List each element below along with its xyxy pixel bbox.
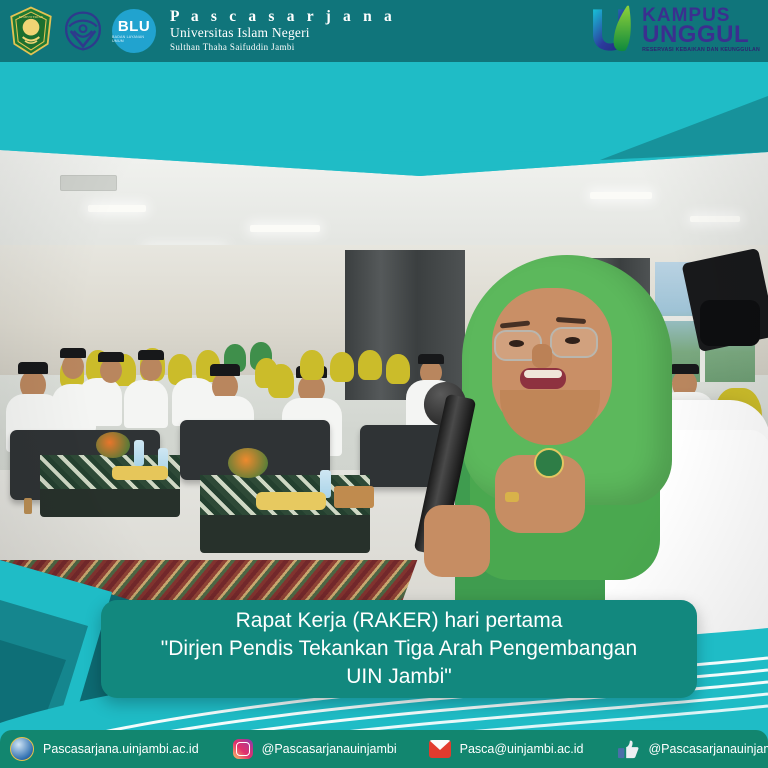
footer-facebook-label: @Pascasarjanauinjambi <box>648 742 768 756</box>
instagram-icon <box>233 739 253 759</box>
header-logo-group: KEMENTERIAN BLU BADAN LAYANAN UMUM P a s… <box>0 6 396 56</box>
caption-line-3: UIN Jambi" <box>346 663 451 691</box>
footer-email[interactable]: Pasca@uinjambi.ac.id <box>429 740 584 758</box>
logo-uin-sts-jambi-icon <box>60 8 106 54</box>
footer-website-label: Pascasarjana.uinjambi.ac.id <box>43 742 199 756</box>
kampus-unggul-mark-icon <box>584 4 638 56</box>
kampus-unggul-logo: KAMPUS UNGGUL RESERVASI KEBAIKAN DAN KEU… <box>584 4 760 56</box>
svg-text:KEMENTERIAN: KEMENTERIAN <box>19 15 44 19</box>
institution-title-block: P a s c a s a r j a n a Universitas Isla… <box>170 8 396 54</box>
blu-sublabel: BADAN LAYANAN UMUM <box>112 35 156 43</box>
facebook-icon <box>617 739 639 759</box>
footer-bar: Pascasarjana.uinjambi.ac.id @Pascasarjan… <box>0 730 768 768</box>
globe-icon <box>10 737 34 761</box>
footer-instagram[interactable]: @Pascasarjanauinjambi <box>233 739 397 759</box>
kampus-unggul-wordmark: KAMPUS UNGGUL RESERVASI KEBAIKAN DAN KEU… <box>642 7 760 53</box>
kampus-unggul-line2: UNGGUL <box>642 24 760 46</box>
footer-website[interactable]: Pascasarjana.uinjambi.ac.id <box>10 737 199 761</box>
kampus-unggul-tagline: RESERVASI KEBAIKAN DAN KEUNGGULAN <box>642 48 760 53</box>
logo-kementerian-agama-icon: KEMENTERIAN <box>8 6 54 56</box>
institution-line-2: Universitas Islam Negeri <box>170 25 396 42</box>
caption-line-1: Rapat Kerja (RAKER) hari pertama <box>236 607 563 635</box>
footer-email-label: Pasca@uinjambi.ac.id <box>460 742 584 756</box>
footer-instagram-label: @Pascasarjanauinjambi <box>262 742 397 756</box>
poster-canvas: KEMENTERIAN BLU BADAN LAYANAN UMUM P a s… <box>0 0 768 768</box>
blu-label: BLU <box>118 19 150 34</box>
institution-line-3: Sulthan Thaha Saifuddin Jambi <box>170 42 396 54</box>
caption-line-2: "Dirjen Pendis Tekankan Tiga Arah Pengem… <box>161 635 637 663</box>
institution-line-1: P a s c a s a r j a n a <box>170 8 396 25</box>
footer-facebook[interactable]: @Pascasarjanauinjambi <box>617 739 768 759</box>
logo-blu-icon: BLU BADAN LAYANAN UMUM <box>112 9 156 53</box>
caption-box: Rapat Kerja (RAKER) hari pertama "Dirjen… <box>101 600 697 698</box>
email-icon <box>429 740 451 758</box>
